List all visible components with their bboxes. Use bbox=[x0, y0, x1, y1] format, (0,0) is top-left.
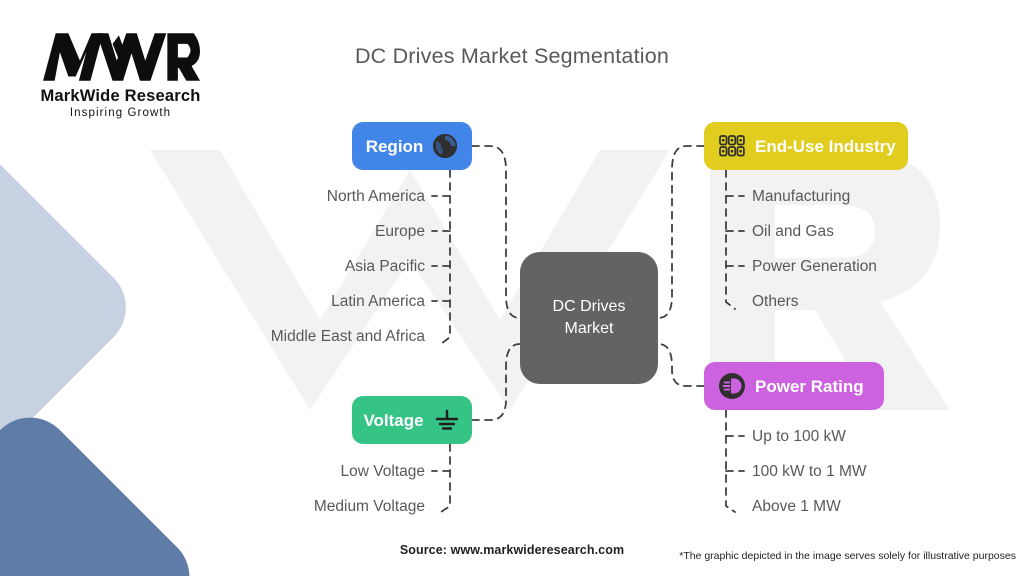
leaf-power-1: 100 kW to 1 MW bbox=[752, 464, 867, 480]
branch-node-industry[interactable]: End-Use Industry bbox=[704, 122, 908, 170]
leaf-voltage-0: Low Voltage bbox=[180, 464, 425, 480]
leaf-region-3: Latin America bbox=[180, 294, 425, 310]
leaf-industry-1: Oil and Gas bbox=[752, 224, 834, 240]
leaf-industry-3: Others bbox=[752, 294, 799, 310]
infographic-canvas: MarkWide Research Inspiring Growth DC Dr… bbox=[0, 0, 1024, 576]
ground-symbol-icon bbox=[433, 407, 461, 433]
branch-label-voltage: Voltage bbox=[363, 412, 423, 429]
hub-label: DC Drives Market bbox=[543, 296, 636, 339]
hub-node[interactable]: DC Drives Market bbox=[520, 252, 658, 384]
leaf-industry-0: Manufacturing bbox=[752, 189, 850, 205]
branch-label-power: Power Rating bbox=[755, 378, 864, 395]
decorative-square-light bbox=[0, 138, 143, 484]
leaf-power-2: Above 1 MW bbox=[752, 499, 841, 515]
leaf-industry-2: Power Generation bbox=[752, 259, 877, 275]
brand-name: MarkWide Research bbox=[28, 87, 213, 106]
branch-label-region: Region bbox=[366, 138, 424, 155]
page-title: DC Drives Market Segmentation bbox=[0, 44, 1024, 69]
hub-line-1: DC Drives bbox=[553, 298, 626, 315]
branch-node-region[interactable]: Region bbox=[352, 122, 472, 170]
disclaimer-note: *The graphic depicted in the image serve… bbox=[679, 550, 1016, 562]
leaf-voltage-1: Medium Voltage bbox=[180, 499, 425, 515]
brand-tagline: Inspiring Growth bbox=[28, 107, 213, 119]
leaf-region-4: Middle East and Africa bbox=[180, 329, 425, 345]
branch-node-power[interactable]: Power Rating bbox=[704, 362, 884, 410]
factory-grid-icon bbox=[718, 133, 746, 159]
branch-label-industry: End-Use Industry bbox=[755, 138, 896, 155]
power-speed-icon bbox=[718, 372, 746, 400]
hub-line-2: Market bbox=[565, 320, 614, 337]
leaf-region-1: Europe bbox=[180, 224, 425, 240]
globe-icon bbox=[432, 133, 458, 159]
leaf-power-0: Up to 100 kW bbox=[752, 429, 846, 445]
leaf-region-0: North America bbox=[180, 189, 425, 205]
leaf-region-2: Asia Pacific bbox=[180, 259, 425, 275]
branch-node-voltage[interactable]: Voltage bbox=[352, 396, 472, 444]
brand-logo: MarkWide Research Inspiring Growth bbox=[28, 28, 213, 119]
